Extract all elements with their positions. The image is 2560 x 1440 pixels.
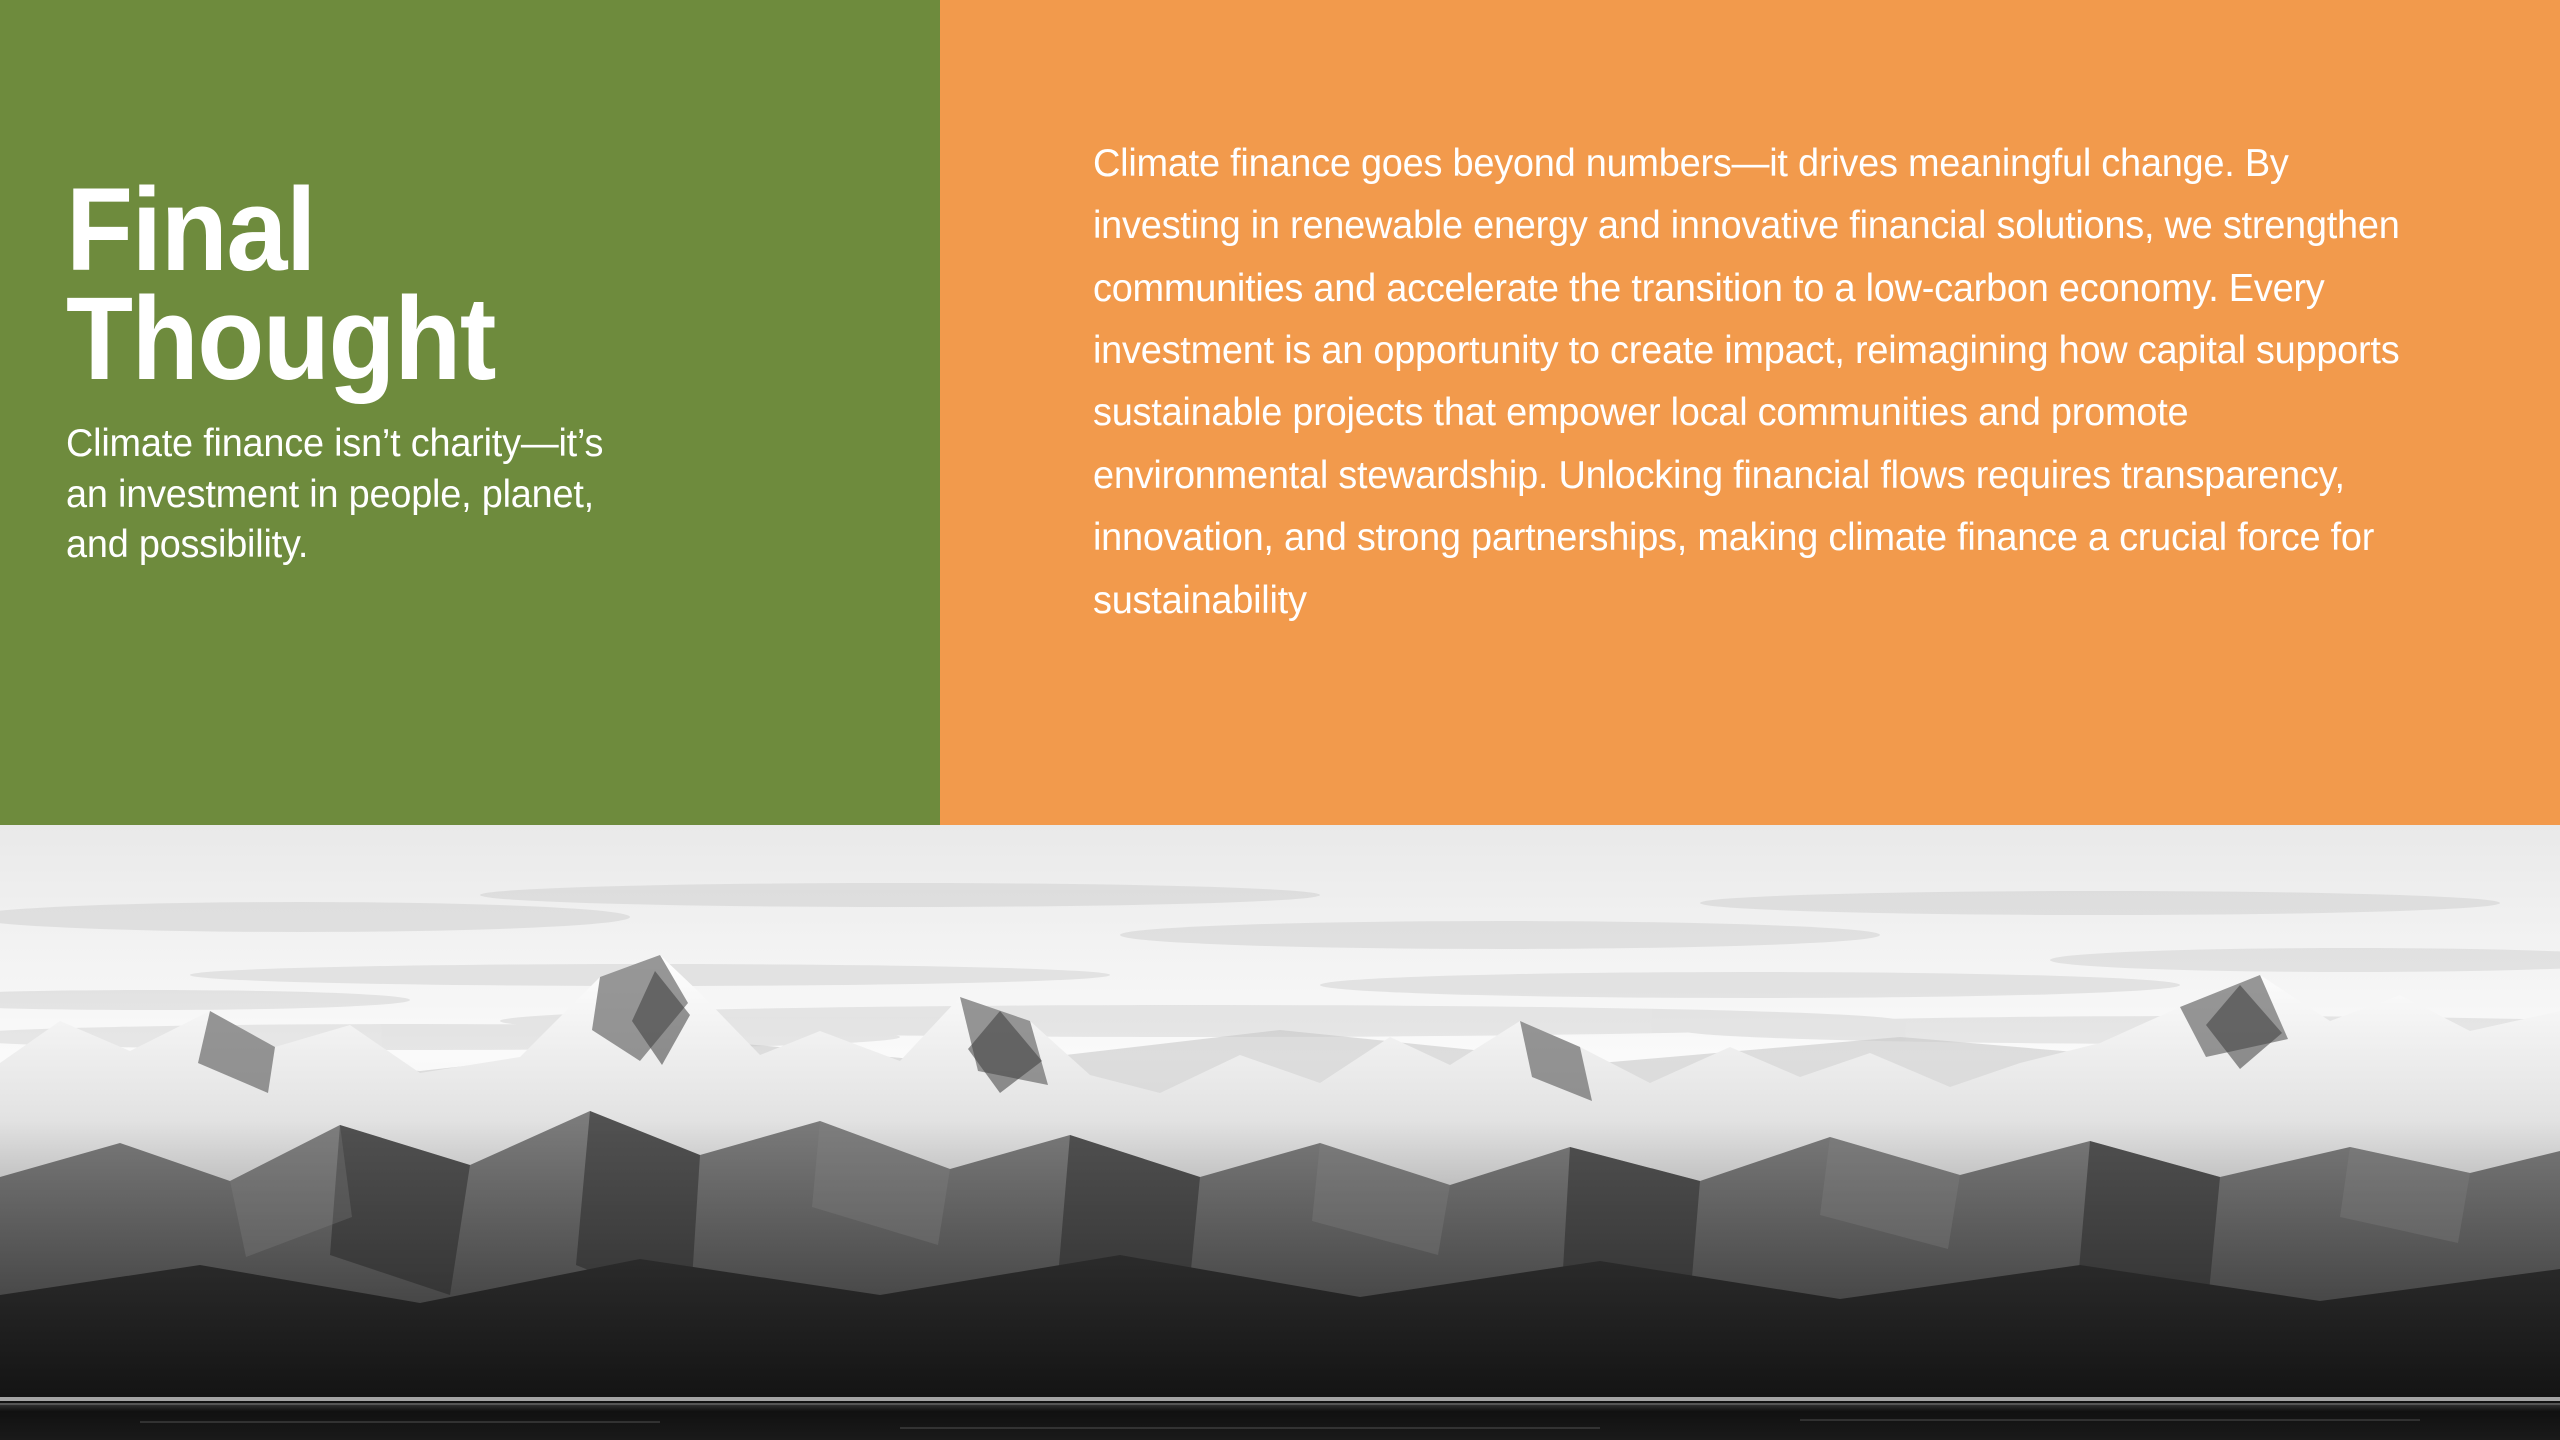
orange-body-panel: Climate finance goes beyond numbers—it d… — [940, 0, 2560, 825]
slide-canvas: Final Thought Climate finance isn’t char… — [0, 0, 2560, 1440]
body-block: Climate finance goes beyond numbers—it d… — [1093, 133, 2453, 632]
title-block: Final Thought Climate finance isn’t char… — [66, 176, 906, 571]
green-title-panel: Final Thought Climate finance isn’t char… — [0, 0, 940, 825]
page-subtitle: Climate finance isn’t charity—it’s an in… — [66, 419, 609, 571]
color-band: Final Thought Climate finance isn’t char… — [0, 0, 2560, 825]
mountain-photo-illustration — [0, 825, 2560, 1440]
body-paragraph: Climate finance goes beyond numbers—it d… — [1093, 133, 2433, 632]
mountain-photo — [0, 825, 2560, 1440]
page-title: Final Thought — [66, 176, 847, 393]
